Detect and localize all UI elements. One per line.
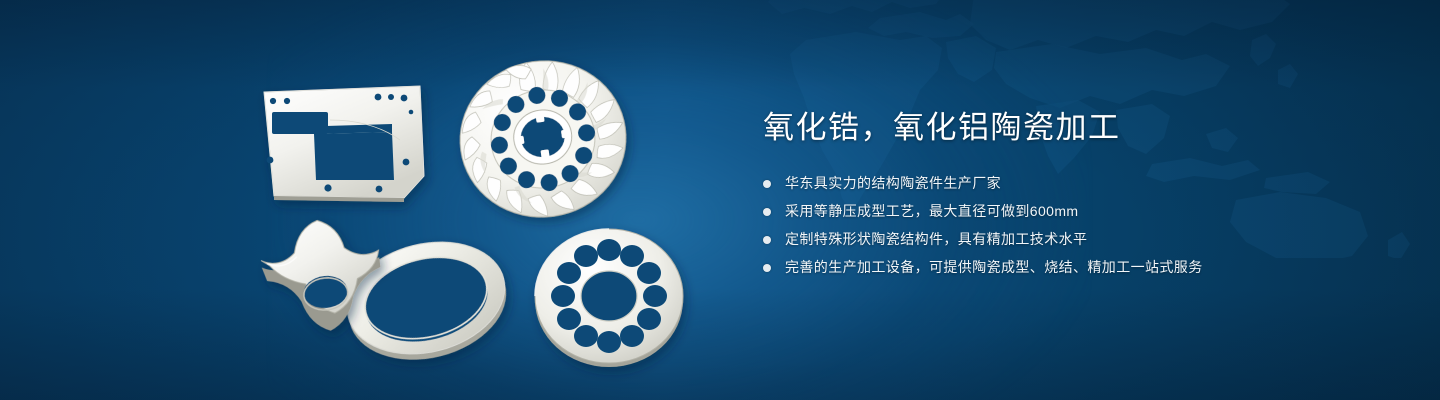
- ceramic-machined-plate: [264, 86, 424, 202]
- ceramic-ring: [335, 226, 518, 375]
- bullet-dot-icon: [763, 208, 771, 216]
- product-images: [0, 0, 740, 400]
- list-item: 采用等静压成型工艺，最大直径可做到600mm: [763, 201, 1383, 222]
- list-item: 华东具实力的结构陶瓷件生产厂家: [763, 173, 1383, 194]
- list-item-label: 完善的生产加工设备，可提供陶瓷成型、烧结、精加工一站式服务: [785, 259, 1203, 275]
- list-item: 完善的生产加工设备，可提供陶瓷成型、烧结、精加工一站式服务: [763, 257, 1383, 278]
- banner-headline: 氧化锆，氧化铝陶瓷加工: [763, 108, 1383, 148]
- list-item-label: 华东具实力的结构陶瓷件生产厂家: [785, 175, 1001, 191]
- hero-banner: 氧化锆，氧化铝陶瓷加工 华东具实力的结构陶瓷件生产厂家 采用等静压成型工艺，最大…: [0, 0, 1440, 400]
- ceramic-perforated-disc: [535, 229, 683, 367]
- list-item-label: 定制特殊形状陶瓷结构件，具有精加工技术水平: [785, 231, 1087, 247]
- bullet-dot-icon: [763, 236, 771, 244]
- banner-copy: 氧化锆，氧化铝陶瓷加工 华东具实力的结构陶瓷件生产厂家 采用等静压成型工艺，最大…: [763, 108, 1383, 278]
- feature-list: 华东具实力的结构陶瓷件生产厂家 采用等静压成型工艺，最大直径可做到600mm 定…: [763, 173, 1383, 278]
- bullet-dot-icon: [763, 264, 771, 272]
- ceramic-impeller-disc: [450, 50, 636, 228]
- bullet-dot-icon: [763, 180, 771, 188]
- list-item: 定制特殊形状陶瓷结构件，具有精加工技术水平: [763, 229, 1383, 250]
- list-item-label: 采用等静压成型工艺，最大直径可做到600mm: [785, 203, 1078, 219]
